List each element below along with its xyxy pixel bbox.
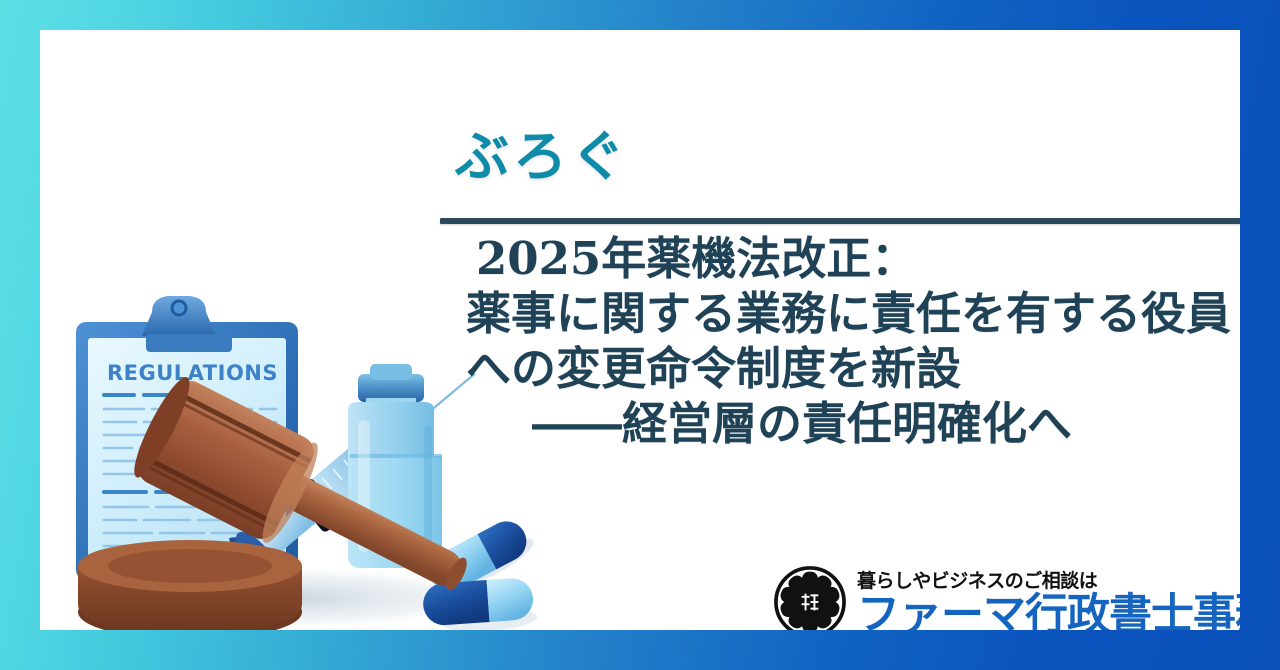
white-content-card: REGULATIONS xyxy=(40,30,1240,630)
page-title: 2025年薬機法改正： 薬事に関する業務に責任を有する役員 への変更命令制度を新… xyxy=(440,232,1240,452)
title-divider-rule xyxy=(440,218,1240,224)
blog-header-banner: REGULATIONS xyxy=(0,0,1280,670)
page-title-line-4: ――経営層の責任明確化へ xyxy=(440,397,1240,452)
page-title-line-1: 2025年薬機法改正： xyxy=(440,232,1240,287)
kicker-label: ぶろぐ xyxy=(455,130,629,184)
logo-office-name: ファーマ行政書士事務所 xyxy=(857,594,1240,630)
sound-block xyxy=(78,540,302,630)
page-title-line-3: への変更命令制度を新設 xyxy=(440,342,1240,397)
logo-tagline: 暮らしやビジネスのご相談は xyxy=(857,571,1240,592)
office-logo[interactable]: 暮らしやビジネスのご相談は ファーマ行政書士事務所 xyxy=(773,565,1240,630)
gyosei-shoshi-cosmos-emblem-icon xyxy=(773,565,847,630)
logo-text-block: 暮らしやビジネスのご相談は ファーマ行政書士事務所 xyxy=(857,571,1240,630)
page-title-line-2: 薬事に関する業務に責任を有する役員 xyxy=(440,287,1240,342)
